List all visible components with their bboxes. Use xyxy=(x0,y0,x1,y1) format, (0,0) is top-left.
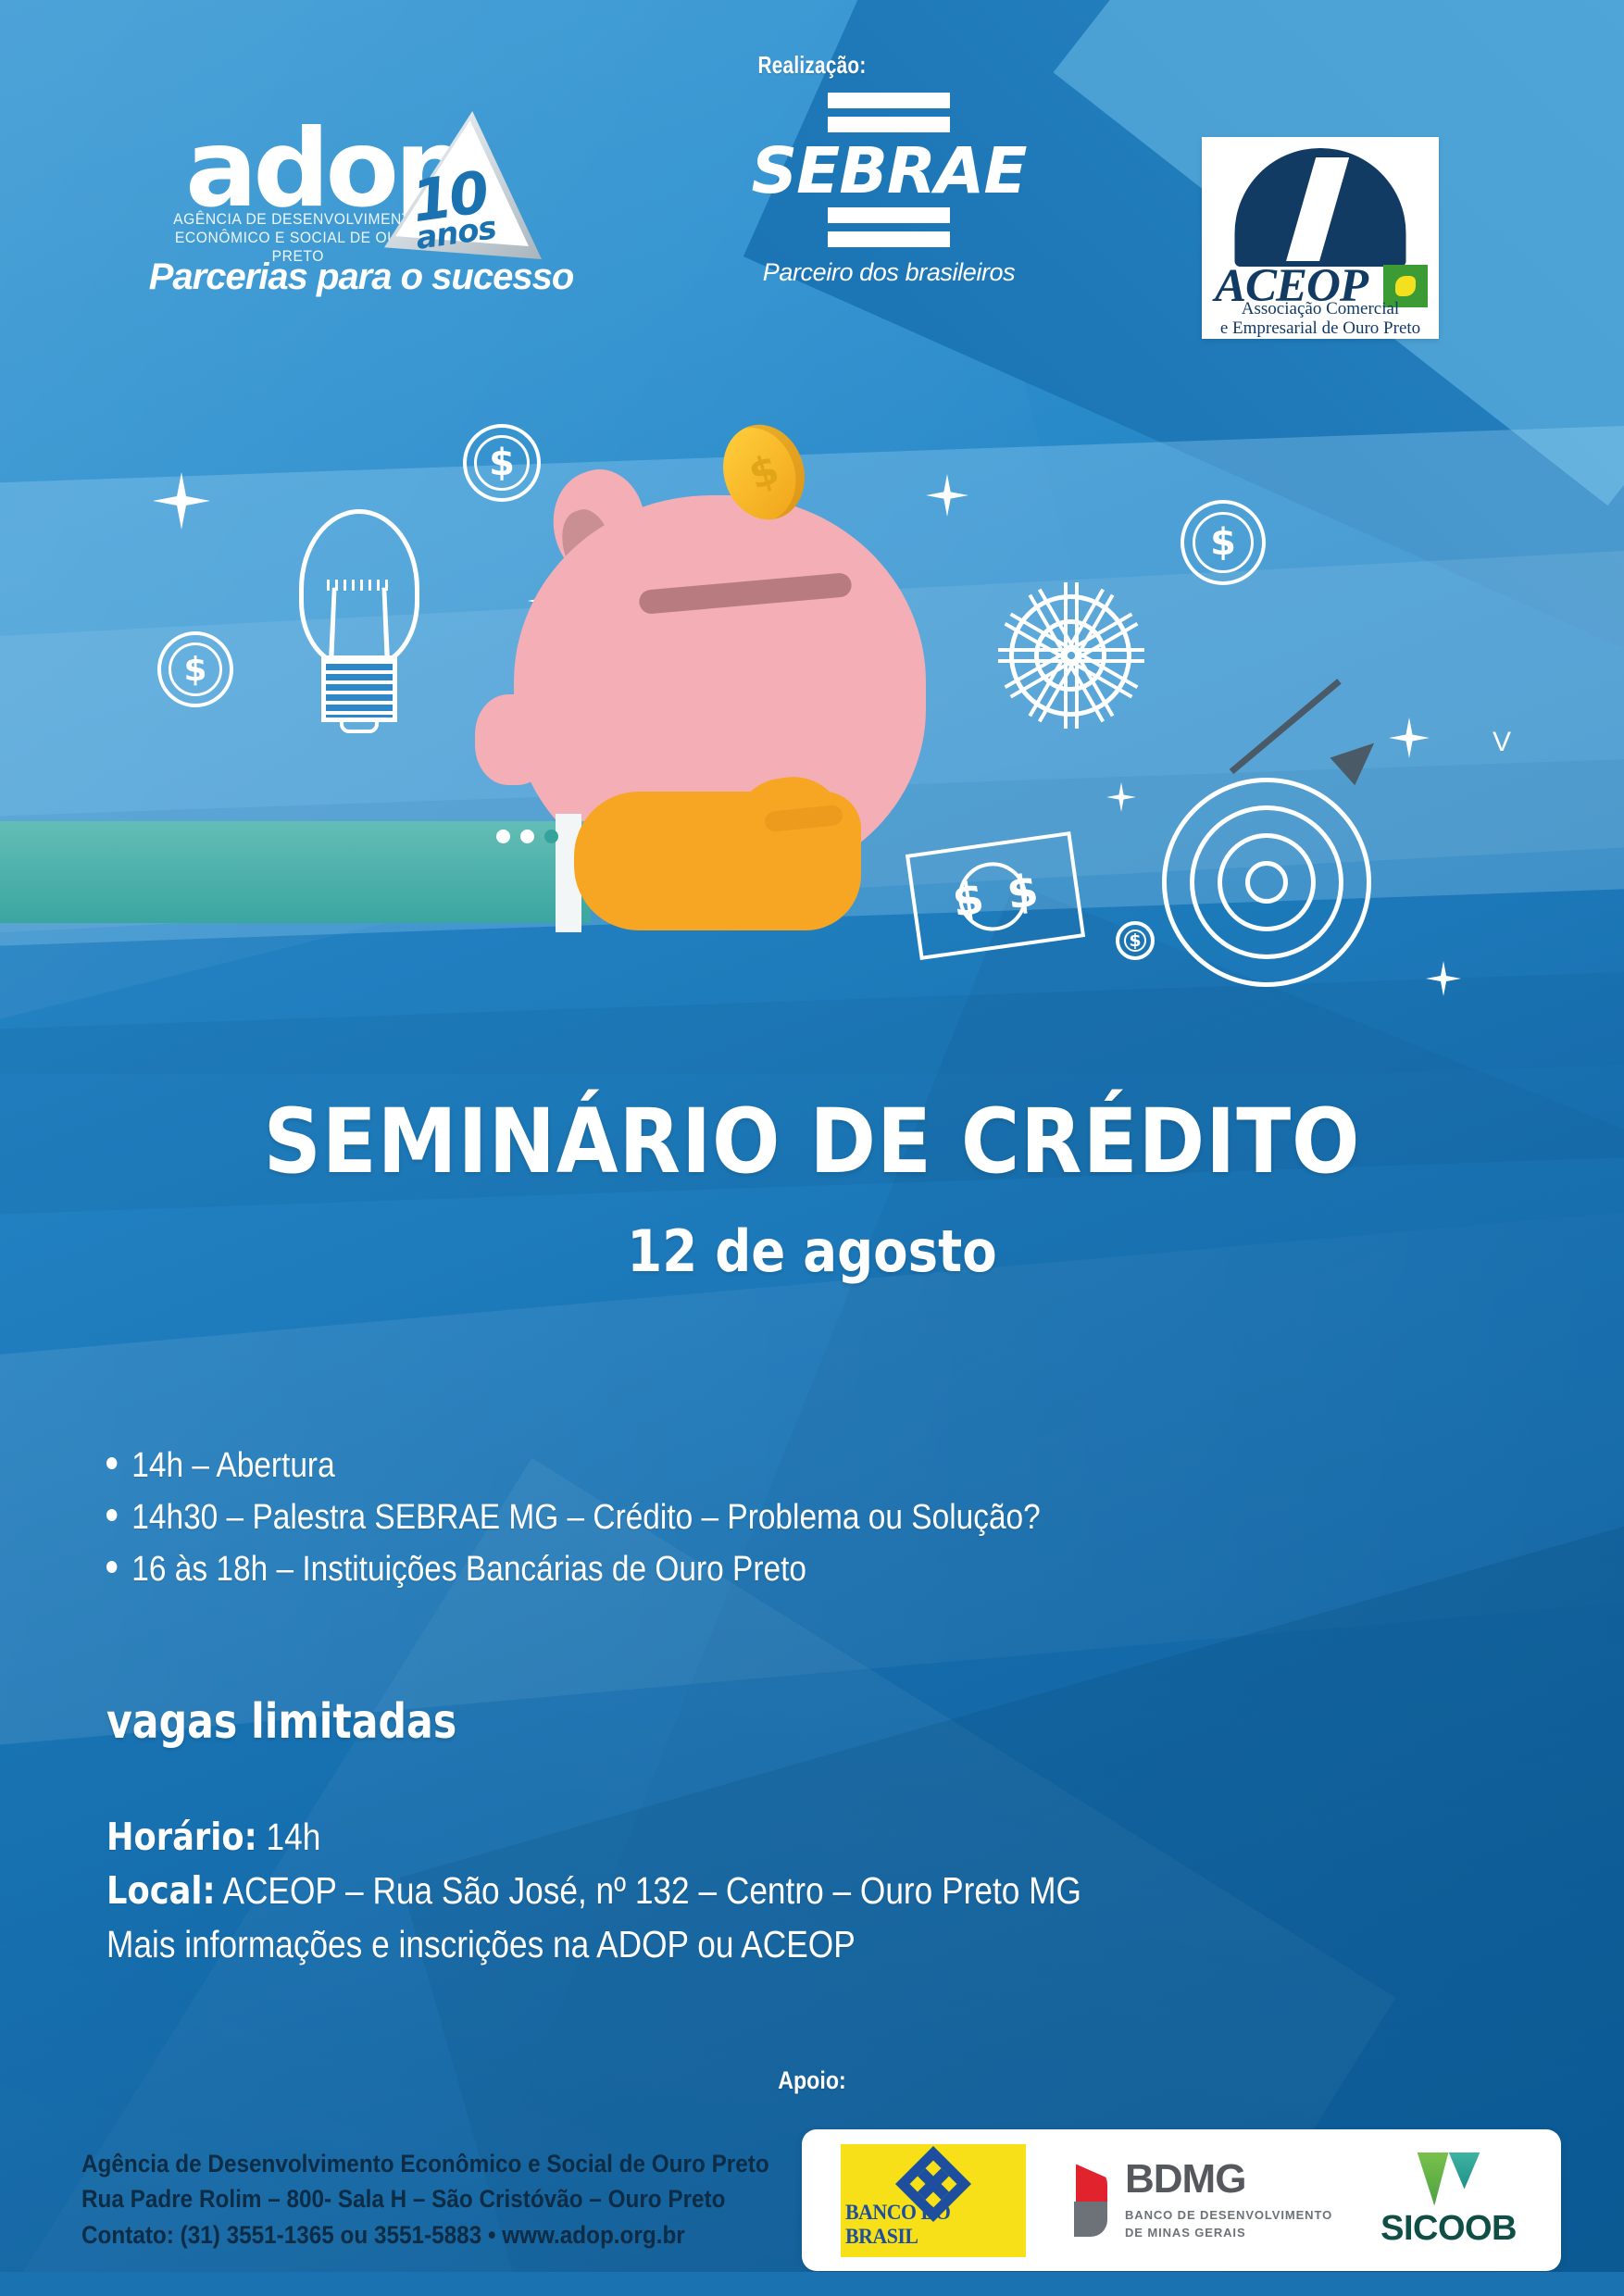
local-line: Local: ACEOP – Rua São José, nº 132 – Ce… xyxy=(106,1864,1102,1917)
sebrae-bar-2 xyxy=(828,117,950,132)
bdmg-text-block: BDMG BANCO DE DESENVOLVIMENTO DE MINAS G… xyxy=(1125,2159,1332,2242)
lightbulb-icon xyxy=(282,509,440,741)
bullet-icon xyxy=(106,1509,117,1521)
footer-contact-block: Agência de Desenvolvimento Econômico e S… xyxy=(81,2146,804,2252)
vagas-limitadas-highlight: vagas limitadas xyxy=(106,1694,456,1750)
list-item: 14h – Abertura xyxy=(106,1440,1166,1491)
bulb-base-shape xyxy=(321,655,397,722)
illustration-section: $ $ $ $ $ $ V xyxy=(0,398,1624,1074)
realizacao-label: Realização: xyxy=(162,51,1461,80)
poster-canvas: Realização: adop AGÊNCIA DE DESENVOLVIME… xyxy=(0,0,1624,2296)
sparkle-icon xyxy=(1106,782,1136,812)
sebrae-bar-1 xyxy=(828,93,950,108)
gear-teeth-shape xyxy=(1009,594,1131,717)
cuff-button-icon xyxy=(544,830,558,843)
logo-bdmg: BDMG BANCO DE DESENVOLVIMENTO DE MINAS G… xyxy=(1074,2159,1332,2242)
apoio-label: Apoio: xyxy=(114,2066,1510,2095)
bdmg-subtitle-line1: BANCO DE DESENVOLVIMENTO xyxy=(1125,2206,1332,2225)
bulb-tip-shape xyxy=(340,718,379,733)
adop-10-anos-badge: 10 anos xyxy=(384,111,542,259)
sebrae-bar-4 xyxy=(828,231,950,247)
agenda-item-text: 14h30 – Palestra SEBRAE MG – Crédito – P… xyxy=(131,1491,1040,1543)
bulb-coil-shape xyxy=(327,580,394,591)
dollar-coin-icon: $ xyxy=(157,631,233,707)
info-line: Mais informações e inscrições na ADOP ou… xyxy=(106,1917,1102,1971)
agenda-item-text: 16 às 18h – Instituições Bancárias de Ou… xyxy=(131,1543,806,1595)
bdmg-wordmark: BDMG xyxy=(1125,2159,1332,2200)
list-item: 16 às 18h – Instituições Bancárias de Ou… xyxy=(106,1543,1166,1595)
sicoob-mark-icon xyxy=(1418,2152,1480,2206)
sparkle-icon xyxy=(153,472,210,530)
sparkle-icon xyxy=(926,474,968,517)
sponsor-logos-card: BANCO DO BRASIL BDMG BANCO DE DESENVOLVI… xyxy=(802,2129,1561,2271)
logo-aceop: ACEOP Associação Comercial e Empresarial… xyxy=(1202,137,1439,339)
logo-adop: adop AGÊNCIA DE DESENVOLVIMENTO ECONÔMIC… xyxy=(130,143,620,329)
logo-sebrae: SEBRAE Parceiro dos brasileiros xyxy=(741,93,1037,315)
adop-tagline: Parcerias para o sucesso xyxy=(93,256,630,298)
aceop-subtitle-line2: e Empresarial de Ouro Preto xyxy=(1202,318,1439,339)
cuff-button-icon xyxy=(496,830,510,843)
bullet-icon xyxy=(106,1561,117,1573)
horario-line: Horário: 14h xyxy=(106,1810,1102,1864)
footer-line-1: Agência de Desenvolvimento Econômico e S… xyxy=(81,2146,731,2181)
bdmg-mark-icon xyxy=(1074,2165,1113,2237)
local-label: Local: xyxy=(106,1868,216,1913)
sebrae-bar-3 xyxy=(828,207,950,223)
horario-value: 14h xyxy=(267,1816,321,1858)
list-item: 14h30 – Palestra SEBRAE MG – Crédito – P… xyxy=(106,1491,1166,1543)
dollar-coin-icon: $ xyxy=(1181,500,1266,585)
event-details: Horário: 14h Local: ACEOP – Rua São José… xyxy=(106,1810,1264,1972)
sebrae-tagline: Parceiro dos brasileiros xyxy=(741,258,1037,287)
sparkle-icon xyxy=(1426,961,1461,996)
banknote-dollar-right: $ xyxy=(1004,864,1042,919)
logo-banco-do-brasil: BANCO DO BRASIL xyxy=(841,2144,1026,2257)
aceop-subtitle-line1: Associação Comercial xyxy=(1202,299,1439,319)
footer-line-2: Rua Padre Rolim – 800- Sala H – São Cris… xyxy=(81,2181,731,2216)
cuff-button-icon xyxy=(520,830,534,843)
page-title: SEMINÁRIO DE CRÉDITO xyxy=(81,1097,1543,1186)
target-icon xyxy=(1162,778,1371,987)
local-value: ACEOP – Rua São José, nº 132 – Centro – … xyxy=(222,1869,1081,1912)
dollar-coin-icon: $ xyxy=(463,424,541,502)
bulb-filament-shape xyxy=(329,588,390,662)
horario-label: Horário: xyxy=(106,1815,257,1859)
banknote-dollar-left: $ xyxy=(949,872,987,928)
header-logos-section: Realização: adop AGÊNCIA DE DESENVOLVIME… xyxy=(0,0,1624,389)
sebrae-wordmark: SEBRAE xyxy=(741,141,1037,202)
agenda-list: 14h – Abertura 14h30 – Palestra SEBRAE M… xyxy=(106,1440,1310,1596)
sicoob-wordmark: SICOOB xyxy=(1380,2209,1517,2249)
logo-sicoob: SICOOB xyxy=(1380,2152,1517,2249)
agenda-item-text: 14h – Abertura xyxy=(131,1440,334,1491)
bdmg-subtitle-line2: DE MINAS GERAIS xyxy=(1125,2224,1332,2242)
footer-line-3[interactable]: Contato: (31) 3551-1365 ou 3551-5883 • w… xyxy=(81,2217,731,2252)
event-date: 12 de agosto xyxy=(97,1217,1527,1285)
bullet-icon xyxy=(106,1457,117,1469)
sparkle-icon xyxy=(1389,717,1430,758)
title-section: SEMINÁRIO DE CRÉDITO 12 de agosto xyxy=(0,1097,1624,1285)
dollar-coin-icon: $ xyxy=(1116,921,1155,960)
footer-strip xyxy=(0,2272,1624,2296)
banco-do-brasil-wordmark: BANCO DO BRASIL xyxy=(845,2201,1021,2249)
check-mark-icon: V xyxy=(1493,727,1511,758)
